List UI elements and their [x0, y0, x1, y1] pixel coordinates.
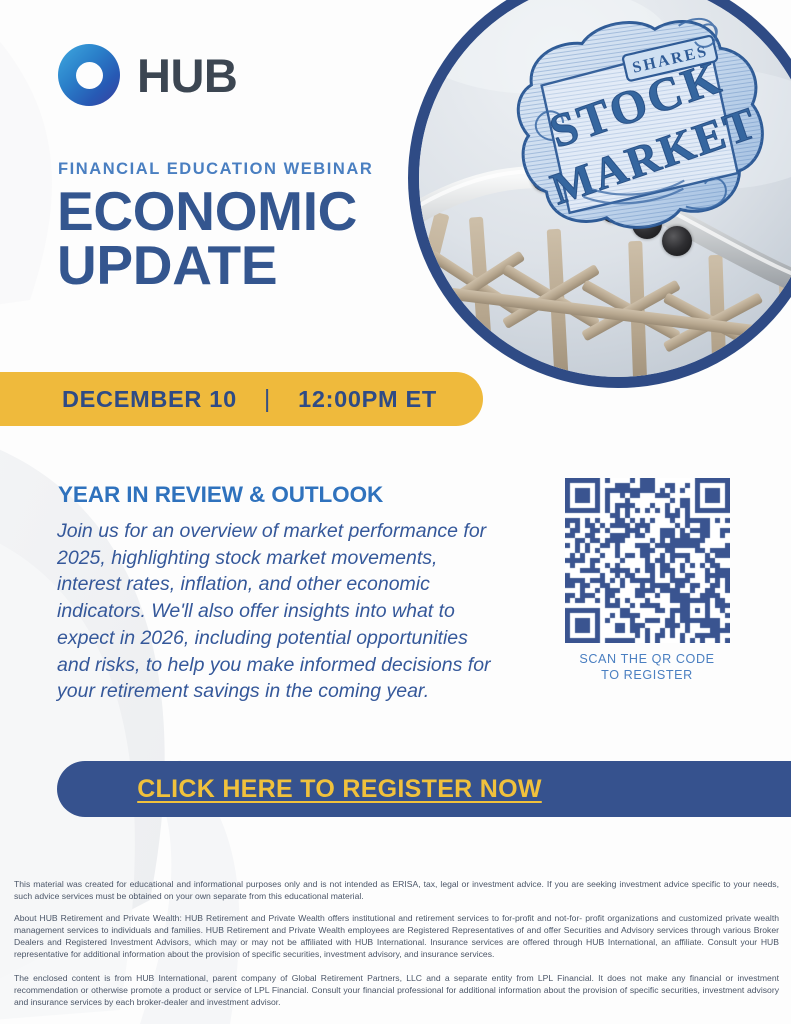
- disclaimer-paragraph-2: About HUB Retirement and Private Wealth:…: [14, 913, 779, 960]
- hub-logo: HUB: [58, 44, 237, 106]
- hub-ring-logo-icon: [58, 44, 120, 106]
- page-title-line-1: ECONOMIC: [57, 180, 357, 242]
- register-button[interactable]: CLICK HERE TO REGISTER NOW: [57, 761, 791, 817]
- disclaimer-paragraph-1: This material was created for educationa…: [14, 879, 779, 903]
- eyebrow-label: FINANCIAL EDUCATION WEBINAR: [58, 160, 373, 179]
- hero-photo-inner: SHARES STOCK MARKET: [419, 0, 791, 377]
- date-time-inner: DECEMBER 10 | 12:00PM ET: [62, 385, 437, 414]
- page-title-line-2: UPDATE: [57, 239, 357, 293]
- flyer-page: SHARES STOCK MARKET: [0, 0, 791, 1024]
- date-time-separator: |: [264, 385, 271, 414]
- qr-caption: SCAN THE QR CODE TO REGISTER: [552, 652, 742, 683]
- date-time-banner: DECEMBER 10 | 12:00PM ET: [0, 372, 483, 426]
- section-paragraph: Join us for an overview of market perfor…: [57, 518, 497, 705]
- page-title: ECONOMIC UPDATE: [57, 185, 357, 293]
- qr-caption-line-1: SCAN THE QR CODE: [552, 652, 742, 668]
- disclaimer-paragraph-3: The enclosed content is from HUB Interna…: [14, 973, 779, 1009]
- stock-market-sign-icon: SHARES STOCK MARKET: [500, 0, 791, 265]
- qr-caption-line-2: TO REGISTER: [552, 668, 742, 684]
- webinar-date: DECEMBER 10: [62, 386, 237, 413]
- section-title: YEAR IN REVIEW & OUTLOOK: [58, 482, 383, 508]
- hero-image: SHARES STOCK MARKET: [408, 0, 791, 388]
- qr-code-block[interactable]: SCAN THE QR CODE TO REGISTER: [552, 478, 742, 683]
- register-button-label: CLICK HERE TO REGISTER NOW: [137, 775, 712, 804]
- hub-wordmark: HUB: [137, 52, 237, 99]
- webinar-time: 12:00PM ET: [298, 386, 437, 413]
- qr-code-icon[interactable]: [565, 478, 730, 643]
